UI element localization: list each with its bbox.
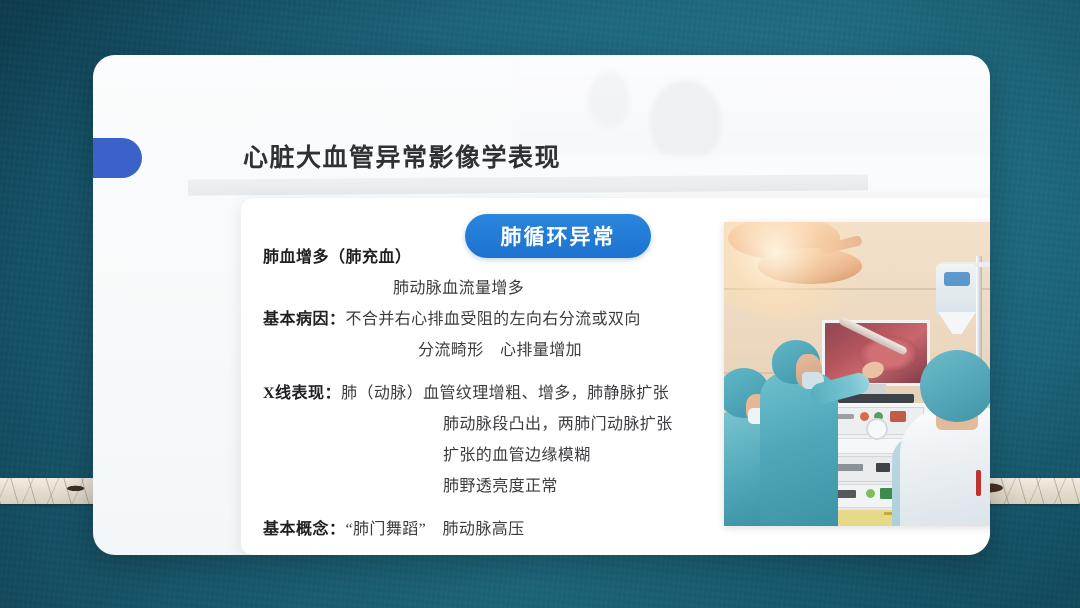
title-accent-tab [93, 138, 142, 178]
line-spacer [263, 366, 723, 378]
text-line: 肺动脉血流量增多 [263, 273, 723, 304]
slide-card: 心脏大血管异常影像学表现 肺循环异常 肺血增多（肺充血） 肺动脉血流量增多 基本… [93, 55, 990, 555]
body-text-block: 肺血增多（肺充血） 肺动脉血流量增多 基本病因：不合并右心排血受阻的左向右分流或… [263, 242, 723, 545]
text-line: 肺动脉段凸出，两肺门动脉扩张 [263, 409, 723, 440]
slide-stage: 心脏大血管异常影像学表现 肺循环异常 肺血增多（肺充血） 肺动脉血流量增多 基本… [0, 0, 1080, 608]
line-label: X线表现： [263, 386, 341, 402]
text-line: 肺野透亮度正常 [263, 471, 723, 502]
photo-light-overlay [724, 222, 990, 526]
line-text: 不合并右心排血受阻的左向右分流或双向 [346, 312, 641, 328]
text-line: 基本概念：“肺门舞蹈” 肺动脉高压 [263, 514, 723, 545]
operating-room-photo [724, 222, 990, 526]
line-label: 基本病因： [263, 312, 346, 328]
watermark-image [513, 55, 990, 155]
line-text: 肺动脉血流量增多 [393, 281, 524, 297]
text-line: 肺血增多（肺充血） [263, 242, 723, 273]
line-label: 肺血增多（肺充血） [263, 250, 412, 266]
line-text: 肺野透亮度正常 [443, 479, 558, 495]
line-text: 分流畸形 心排量增加 [418, 343, 582, 359]
line-text: 扩张的血管边缘模糊 [443, 448, 591, 464]
text-line: 基本病因：不合并右心排血受阻的左向右分流或双向 [263, 304, 723, 335]
line-text: 肺（动脉）血管纹理增粗、增多，肺静脉扩张 [341, 386, 669, 402]
page-title: 心脏大血管异常影像学表现 [243, 138, 561, 174]
line-text: “肺门舞蹈” 肺动脉高压 [346, 522, 525, 538]
line-label: 基本概念： [263, 522, 346, 538]
content-panel: 肺循环异常 肺血增多（肺充血） 肺动脉血流量增多 基本病因：不合并右心排血受阻的… [241, 198, 990, 555]
watermark-band [188, 174, 868, 195]
text-line: 分流畸形 心排量增加 [263, 335, 723, 366]
line-spacer [263, 502, 723, 514]
text-line: 扩张的血管边缘模糊 [263, 440, 723, 471]
line-text: 肺动脉段凸出，两肺门动脉扩张 [443, 417, 673, 433]
text-line: X线表现：肺（动脉）血管纹理增粗、增多，肺静脉扩张 [263, 378, 723, 409]
